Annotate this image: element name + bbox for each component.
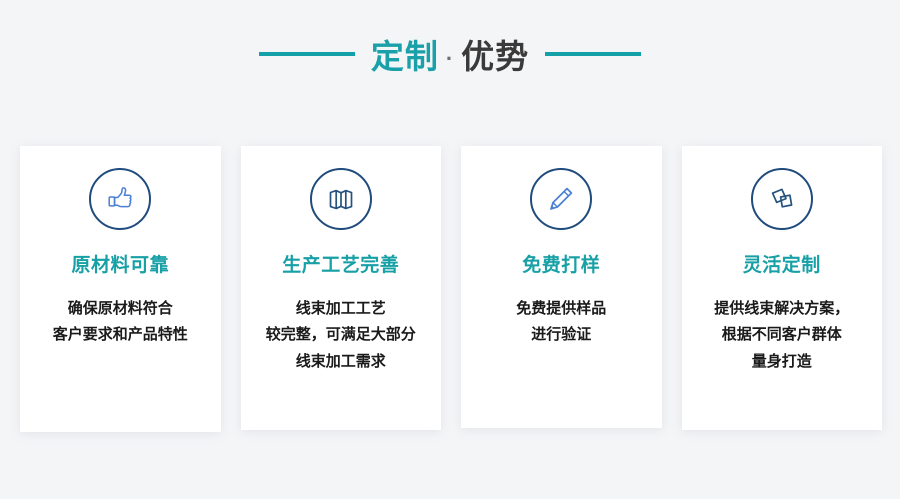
- card-body-line: 客户要求和产品特性: [53, 322, 188, 348]
- card-body-line: 量身打造: [714, 349, 849, 375]
- card-title: 灵活定制: [743, 256, 821, 275]
- advantage-card-free-sampling[interactable]: 免费打样 免费提供样品 进行验证: [461, 146, 662, 428]
- section-heading: 定制 · 优势: [0, 28, 900, 80]
- card-body-line: 根据不同客户群体: [714, 322, 849, 348]
- card-title: 生产工艺完善: [282, 256, 399, 275]
- card-body-line: 较完整，可满足大部分: [266, 322, 416, 348]
- advantage-card-list: 原材料可靠 确保原材料符合 客户要求和产品特性 生产工艺完善 线束加工工艺 较完…: [20, 146, 882, 432]
- heading-rule-left: [259, 52, 355, 56]
- page-title-separator: ·: [439, 46, 461, 72]
- card-title: 原材料可靠: [71, 256, 169, 275]
- advantage-card-production-process[interactable]: 生产工艺完善 线束加工工艺 较完整，可满足大部分 线束加工需求: [241, 146, 442, 430]
- card-body: 提供线束解决方案， 根据不同客户群体 量身打造: [714, 296, 849, 375]
- page-title-primary: 定制: [371, 30, 439, 78]
- heading-rule-right: [545, 52, 641, 56]
- card-body-line: 线束加工需求: [266, 349, 416, 375]
- pencil-icon: [530, 168, 592, 230]
- card-body-line: 免费提供样品: [516, 296, 606, 322]
- card-body-line: 进行验证: [516, 322, 606, 348]
- card-body-line: 确保原材料符合: [53, 296, 188, 322]
- thumbs-up-icon: [89, 168, 151, 230]
- advantage-card-flexible-customization[interactable]: 灵活定制 提供线束解决方案， 根据不同客户群体 量身打造: [682, 146, 883, 430]
- card-body: 免费提供样品 进行验证: [516, 296, 606, 349]
- page-title-secondary: 优势: [461, 30, 529, 78]
- copy-layers-icon: [751, 168, 813, 230]
- card-body-line: 提供线束解决方案，: [714, 296, 849, 322]
- page-title: 定制 · 优势: [371, 30, 529, 78]
- card-body: 线束加工工艺 较完整，可满足大部分 线束加工需求: [266, 296, 416, 375]
- card-body-line: 线束加工工艺: [266, 296, 416, 322]
- card-title: 免费打样: [522, 256, 600, 275]
- card-body: 确保原材料符合 客户要求和产品特性: [53, 296, 188, 349]
- folded-map-icon: [310, 168, 372, 230]
- advantage-card-raw-material[interactable]: 原材料可靠 确保原材料符合 客户要求和产品特性: [20, 146, 221, 432]
